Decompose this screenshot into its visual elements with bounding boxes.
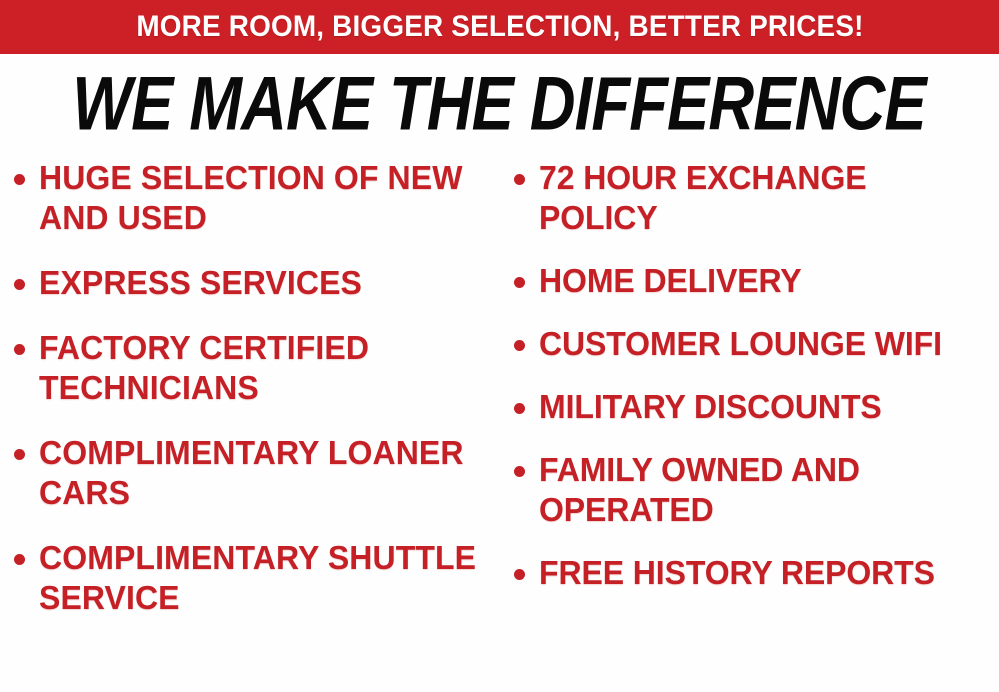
bullet-dot-icon: [514, 277, 525, 288]
top-banner: MORE ROOM, BIGGER SELECTION, BETTER PRIC…: [0, 0, 999, 54]
features-column-left: HUGE SELECTION OF NEW AND USED EXPRESS S…: [0, 158, 505, 692]
bullet-dot-icon: [14, 449, 25, 460]
features-column-right: 72 HOUR EXCHANGE POLICY HOME DELIVERY CU…: [505, 158, 999, 692]
bullet-dot-icon: [514, 403, 525, 414]
bullet-dot-icon: [14, 554, 25, 565]
list-item: HOME DELIVERY: [514, 261, 999, 301]
list-item-label: EXPRESS SERVICES: [39, 263, 362, 303]
bullet-dot-icon: [514, 340, 525, 351]
list-item: COMPLIMENTARY SHUTTLE SERVICE: [14, 538, 505, 618]
list-item: EXPRESS SERVICES: [14, 263, 505, 303]
bullet-dot-icon: [14, 174, 25, 185]
list-item-label: HOME DELIVERY: [539, 261, 802, 301]
features-columns: HUGE SELECTION OF NEW AND USED EXPRESS S…: [0, 158, 999, 692]
list-item: MILITARY DISCOUNTS: [514, 387, 999, 427]
top-banner-text: MORE ROOM, BIGGER SELECTION, BETTER PRIC…: [136, 12, 863, 42]
list-item-label: FAMILY OWNED AND OPERATED: [539, 450, 985, 530]
list-item-label: COMPLIMENTARY SHUTTLE SERVICE: [39, 538, 491, 618]
bullet-dot-icon: [514, 569, 525, 580]
list-item: FAMILY OWNED AND OPERATED: [514, 450, 999, 530]
bullet-dot-icon: [514, 174, 525, 185]
list-item-label: FREE HISTORY REPORTS: [539, 553, 935, 593]
bullet-dot-icon: [14, 344, 25, 355]
list-item: HUGE SELECTION OF NEW AND USED: [14, 158, 505, 238]
list-item-label: FACTORY CERTIFIED TECHNICIANS: [39, 328, 491, 408]
list-item-label: MILITARY DISCOUNTS: [539, 387, 882, 427]
list-item: FREE HISTORY REPORTS: [514, 553, 999, 593]
list-item-label: HUGE SELECTION OF NEW AND USED: [39, 158, 491, 238]
list-item: FACTORY CERTIFIED TECHNICIANS: [14, 328, 505, 408]
list-item: COMPLIMENTARY LOANER CARS: [14, 433, 505, 513]
list-item-label: COMPLIMENTARY LOANER CARS: [39, 433, 491, 513]
bullet-dot-icon: [14, 279, 25, 290]
list-item-label: 72 HOUR EXCHANGE POLICY: [539, 158, 985, 238]
bullet-dot-icon: [514, 466, 525, 477]
headline-container: WE MAKE THE DIFFERENCE: [0, 60, 999, 148]
page-title: WE MAKE THE DIFFERENCE: [73, 65, 927, 143]
promo-poster: MORE ROOM, BIGGER SELECTION, BETTER PRIC…: [0, 0, 999, 692]
list-item: 72 HOUR EXCHANGE POLICY: [514, 158, 999, 238]
list-item: CUSTOMER LOUNGE WIFI: [514, 324, 999, 364]
list-item-label: CUSTOMER LOUNGE WIFI: [539, 324, 942, 364]
